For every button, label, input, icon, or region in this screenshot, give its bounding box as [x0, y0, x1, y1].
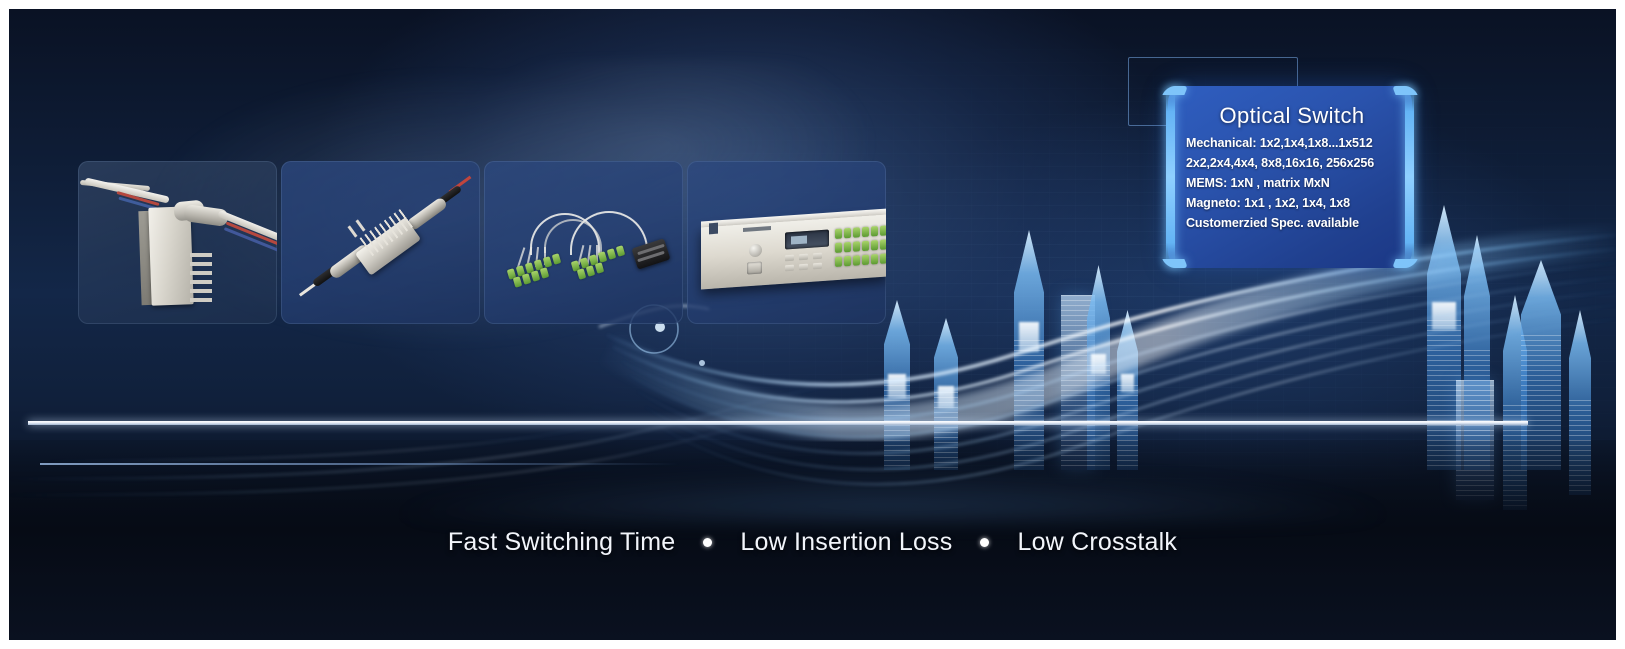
tagline-item-low-insertion-loss: Low Insertion Loss — [734, 528, 958, 557]
spec-line-matrix: 2x2,2x4,4x4, 8x8,16x16, 256x256 — [1186, 156, 1408, 170]
thumbnail-inline-optical-switch[interactable] — [281, 161, 480, 324]
horizon-rule-secondary — [40, 463, 680, 465]
spec-line-custom: Customerzied Spec. available — [1186, 216, 1408, 230]
module-body-icon — [148, 206, 193, 305]
feature-tagline: Fast Switching Time Low Insertion Loss L… — [0, 528, 1625, 557]
chassis-port-icon — [747, 261, 762, 274]
display-readout-icon — [791, 235, 807, 244]
thumbnail-fiber-array-assembly[interactable] — [484, 161, 683, 324]
page-margin-bottom — [0, 640, 1625, 649]
optical-switch-banner: Optical Switch Mechanical: 1x2,1x4,1x8..… — [0, 0, 1625, 649]
product-thumbnail-strip — [78, 161, 886, 324]
tagline-item-fast-switching-time: Fast Switching Time — [442, 528, 681, 557]
thumbnail-rack-optical-switch-chassis[interactable] — [687, 161, 886, 324]
info-card-title: Optical Switch — [1176, 103, 1408, 129]
green-fiber-port-array-icon — [835, 223, 886, 275]
horizon-rule — [28, 421, 1528, 425]
module-pins-icon — [190, 253, 212, 303]
page-margin-right — [1616, 0, 1625, 649]
page-margin-left — [0, 0, 9, 649]
bracket-left-icon — [1166, 86, 1175, 268]
tagline-separator-dot-icon — [703, 538, 712, 547]
spec-line-mechanical: Mechanical: 1x2,1x4,1x8...1x512 — [1186, 136, 1408, 150]
switch-pin-icon — [347, 225, 357, 237]
spec-line-magneto: Magneto: 1x1 , 1x2, 1x4, 1x8 — [1186, 196, 1408, 210]
fiber-array-graphic — [484, 161, 683, 324]
thumbnail-mechanical-switch-module[interactable] — [78, 161, 277, 324]
tagline-separator-dot-icon — [980, 538, 989, 547]
switch-pin-icon — [355, 219, 365, 231]
spec-line-mems: MEMS: 1xN , matrix MxN — [1186, 176, 1408, 190]
page-margin-top — [0, 0, 1625, 9]
info-card-content: Optical Switch Mechanical: 1x2,1x4,1x8..… — [1176, 96, 1408, 261]
chassis-logo-icon — [709, 223, 718, 235]
tagline-item-low-crosstalk: Low Crosstalk — [1011, 528, 1183, 557]
